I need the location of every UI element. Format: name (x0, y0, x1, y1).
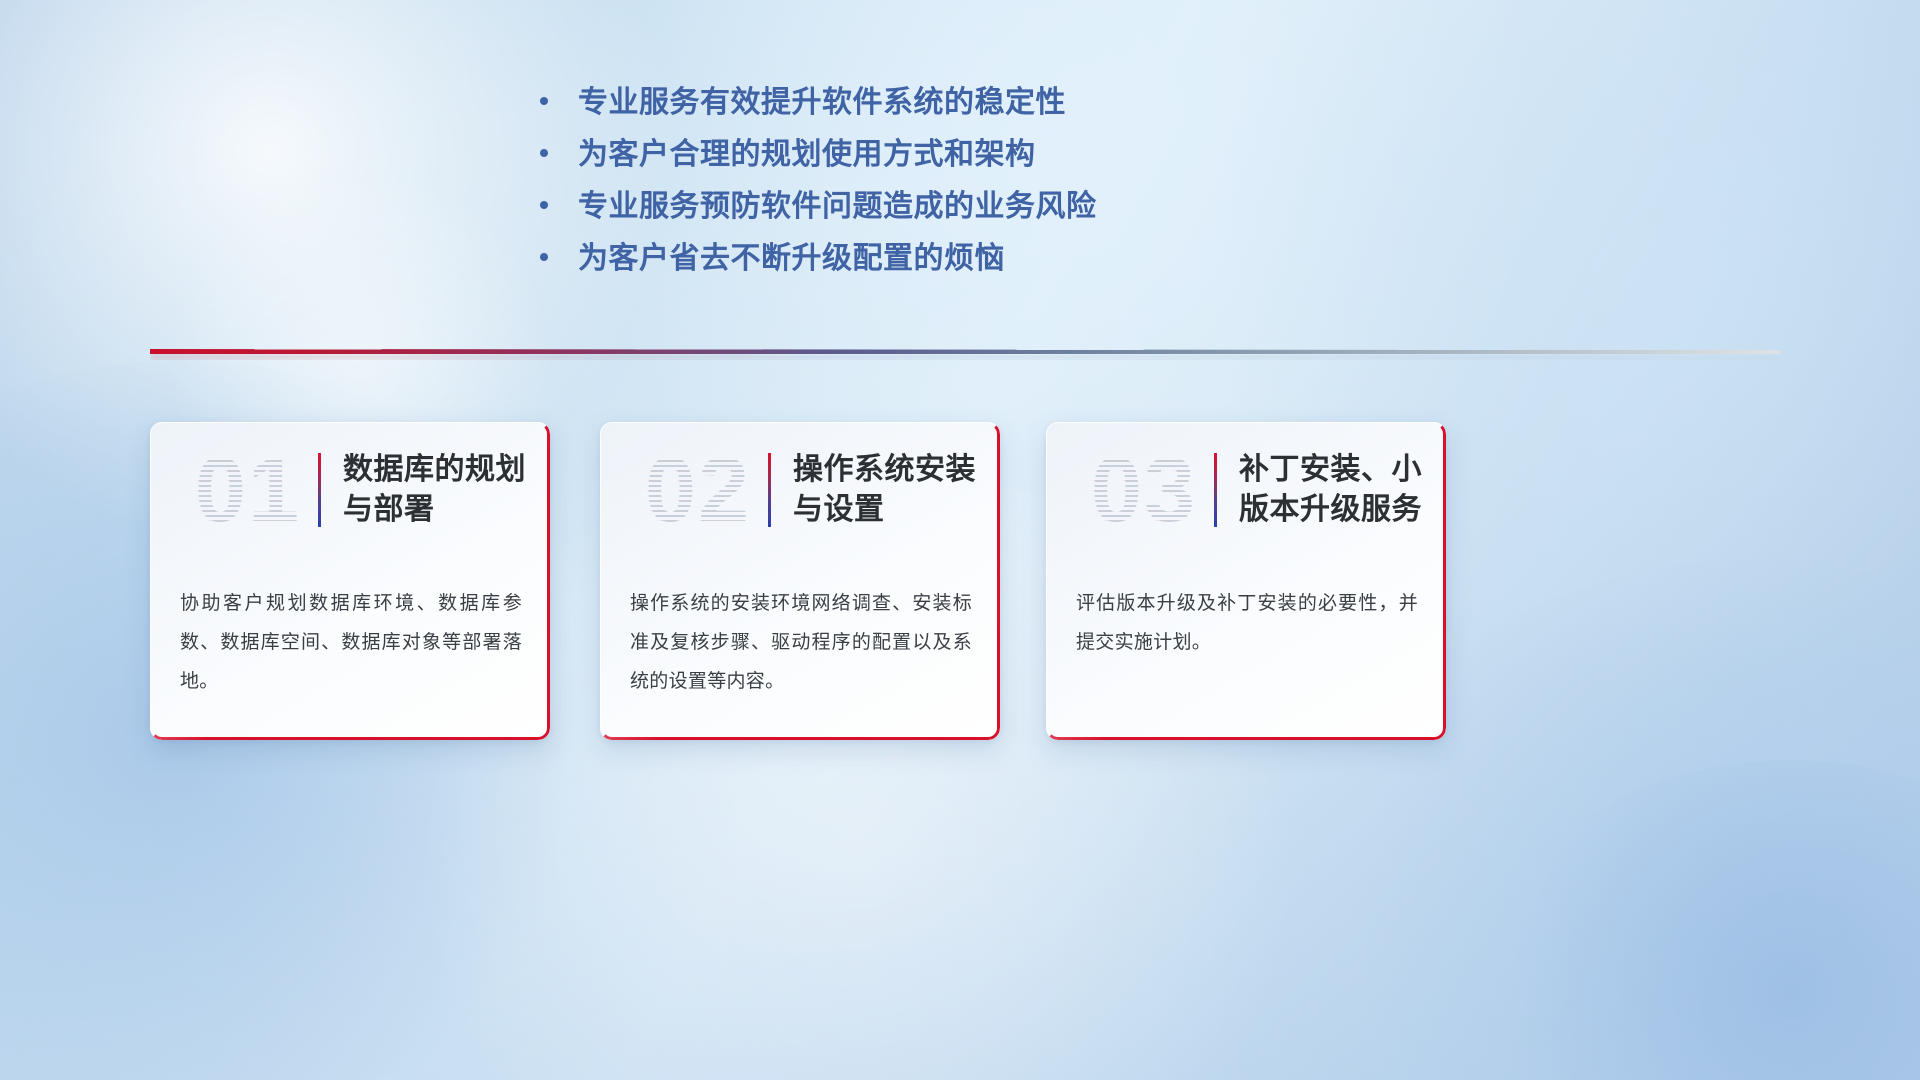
card-header: 02 操作系统安装与设置 (600, 422, 1000, 558)
divider-shadow (150, 354, 1780, 360)
bullet-item: 专业服务预防软件问题造成的业务风险 (540, 190, 1380, 224)
bullet-dot-icon (540, 253, 548, 261)
service-card[interactable]: 03 补丁安装、小版本升级服务 评估版本升级及补丁安装的必要性，并提交实施计划。 (1046, 422, 1446, 740)
service-card[interactable]: 02 操作系统安装与设置 操作系统的安装环境网络调查、安装标准及复核步骤、驱动程… (600, 422, 1000, 740)
card-title-accent-bar (768, 453, 771, 527)
card-title-accent-bar (318, 453, 321, 527)
bullet-dot-icon (540, 201, 548, 209)
card-title: 操作系统安装与设置 (793, 450, 1000, 530)
bullet-item: 为客户合理的规划使用方式和架构 (540, 138, 1380, 172)
bullet-dot-icon (540, 97, 548, 105)
bullet-dot-icon (540, 149, 548, 157)
card-title: 补丁安装、小版本升级服务 (1239, 450, 1446, 530)
service-card[interactable]: 01 数据库的规划与部署 协助客户规划数据库环境、数据库参数、数据库空间、数据库… (150, 422, 550, 740)
bullet-item-label: 专业服务预防软件问题造成的业务风险 (578, 190, 1097, 224)
bullet-item-label: 专业服务有效提升软件系统的稳定性 (578, 86, 1066, 120)
slide-canvas: 专业服务有效提升软件系统的稳定性 为客户合理的规划使用方式和架构 专业服务预防软… (0, 0, 1920, 1080)
bullet-item: 专业服务有效提升软件系统的稳定性 (540, 86, 1380, 120)
card-number-watermark: 01 (178, 440, 318, 540)
bullet-item: 为客户省去不断升级配置的烦恼 (540, 242, 1380, 276)
bullet-item-label: 为客户省去不断升级配置的烦恼 (578, 242, 1005, 276)
bullet-item-label: 为客户合理的规划使用方式和架构 (578, 138, 1036, 172)
benefits-bullet-list: 专业服务有效提升软件系统的稳定性 为客户合理的规划使用方式和架构 专业服务预防软… (540, 86, 1380, 294)
service-card-list: 01 数据库的规划与部署 协助客户规划数据库环境、数据库参数、数据库空间、数据库… (150, 422, 1780, 742)
section-divider (150, 345, 1780, 363)
card-title-accent-bar (1214, 453, 1217, 527)
card-description: 协助客户规划数据库环境、数据库参数、数据库空间、数据库对象等部署落地。 (180, 584, 522, 701)
divider-line (150, 349, 1780, 354)
card-description: 评估版本升级及补丁安装的必要性，并提交实施计划。 (1076, 584, 1418, 662)
card-title: 数据库的规划与部署 (343, 450, 550, 530)
card-header: 01 数据库的规划与部署 (150, 422, 550, 558)
card-header: 03 补丁安装、小版本升级服务 (1046, 422, 1446, 558)
card-description: 操作系统的安装环境网络调查、安装标准及复核步骤、驱动程序的配置以及系统的设置等内… (630, 584, 972, 701)
card-number-watermark: 02 (628, 440, 768, 540)
card-number-watermark: 03 (1074, 440, 1214, 540)
